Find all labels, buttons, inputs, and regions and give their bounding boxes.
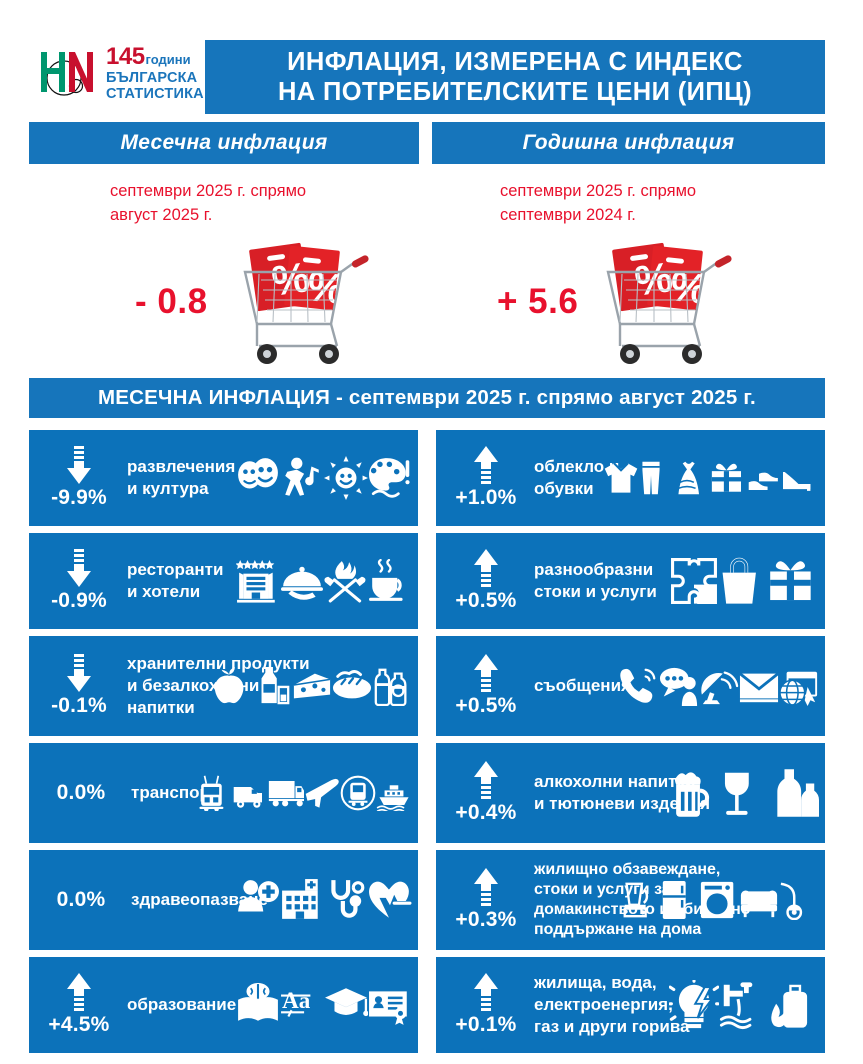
inflation-card: +0.4%алкохолни напиткии тютюневи изделия xyxy=(436,743,825,843)
nsi-logo: 145 години БЪЛГАРСКА СТАТИСТИКА xyxy=(33,44,203,102)
inflation-card: +0.5%разнообразнистоки и услуги xyxy=(436,533,825,629)
cards-column-left: -9.9%развлеченияи култура-0.9%ресторанти… xyxy=(29,430,418,1060)
card-percent-value: +0.3% xyxy=(455,908,516,932)
card-category-label: транспорт xyxy=(129,782,418,804)
card-metric: -0.1% xyxy=(29,636,125,736)
card-category-label-line: здравеопазване xyxy=(131,889,414,911)
card-percent-value: 0.0% xyxy=(57,781,106,805)
card-category-label-line: газ и други горива xyxy=(534,1016,821,1038)
monthly-period-line2: август 2025 г. xyxy=(110,204,306,228)
arrow-up-icon xyxy=(473,654,499,692)
card-percent-value: +4.5% xyxy=(48,1013,109,1037)
card-percent-value: +0.5% xyxy=(455,589,516,613)
nsi-logo-text: 145 години БЪЛГАРСКА СТАТИСТИКА xyxy=(106,45,204,102)
card-category-label-line: облекло и xyxy=(534,456,821,478)
card-category-label-line: стоки и услуги xyxy=(534,581,821,603)
card-metric: +0.3% xyxy=(436,850,532,950)
svg-text:%: % xyxy=(305,262,347,313)
inflation-card: -0.9%ресторантии хотели xyxy=(29,533,418,629)
card-category-label: развлеченияи култура xyxy=(125,456,418,500)
arrow-up-icon xyxy=(473,973,499,1011)
card-category-label: алкохолни напиткии тютюневи изделия xyxy=(532,771,825,815)
logo-years-word: години xyxy=(146,53,191,66)
arrow-up-icon xyxy=(473,868,499,906)
card-metric: -0.9% xyxy=(29,533,125,629)
annual-inflation-period: септември 2025 г. спрямо септември 2024 … xyxy=(500,180,696,228)
logo-line-statistics: СТАТИСТИКА xyxy=(106,87,204,102)
inflation-card: +1.0%облекло иобувки xyxy=(436,430,825,526)
card-percent-value: +0.5% xyxy=(455,694,516,718)
logo-line-bulgarian: БЪЛГАРСКА xyxy=(106,71,204,86)
card-metric: -9.9% xyxy=(29,430,125,526)
card-percent-value: -0.9% xyxy=(51,589,107,613)
monthly-period-line1: септември 2025 г. спрямо xyxy=(110,180,306,204)
card-metric: +1.0% xyxy=(436,430,532,526)
inflation-card: +0.5%съобщения xyxy=(436,636,825,736)
page-title-line1: ИНФЛАЦИЯ, ИЗМЕРЕНА С ИНДЕКС xyxy=(287,47,743,77)
card-category-label: съобщения xyxy=(532,675,825,697)
card-category-label-line: и тютюневи изделия xyxy=(534,793,821,815)
card-category-label-line: и безалкохолни xyxy=(127,675,414,697)
arrow-up-icon xyxy=(473,761,499,799)
card-category-label-line: образование xyxy=(127,994,414,1016)
card-category-label-line: хранителни продукти xyxy=(127,653,414,675)
inflation-card: +4.5%образованиеAa xyxy=(29,957,418,1053)
inflation-card: 0.0%транспорт xyxy=(29,743,418,843)
card-category-label: жилища, вода,електроенергия,газ и други … xyxy=(532,972,825,1037)
page-header: 145 години БЪЛГАРСКА СТАТИСТИКА ИНФЛАЦИЯ… xyxy=(0,18,863,100)
card-percent-value: +0.1% xyxy=(455,1013,516,1037)
card-category-label-line: поддържане на дома xyxy=(534,920,821,940)
annual-inflation-heading: Годишна инфлация xyxy=(432,122,825,164)
card-category-label: ресторантии хотели xyxy=(125,559,418,603)
card-metric: +0.1% xyxy=(436,957,532,1053)
card-category-label-line: транспорт xyxy=(131,782,414,804)
card-category-label: разнообразнистоки и услуги xyxy=(532,559,825,603)
infographic-page: 145 години БЪЛГАРСКА СТАТИСТИКА ИНФЛАЦИЯ… xyxy=(0,0,863,1064)
card-category-label-line: стоки и услуги за xyxy=(534,880,821,900)
card-metric: +0.4% xyxy=(436,743,532,843)
card-category-label: здравеопазване xyxy=(129,889,418,911)
arrow-down-icon xyxy=(66,446,92,484)
card-percent-value: 0.0% xyxy=(57,888,106,912)
monthly-section-banner: МЕСЕЧНА ИНФЛАЦИЯ - септември 2025 г. спр… xyxy=(29,378,825,418)
nsi-logo-mark-icon xyxy=(33,46,99,100)
card-category-label: образование xyxy=(125,994,418,1016)
arrow-up-icon xyxy=(66,973,92,1011)
inflation-card: -9.9%развлеченияи култура xyxy=(29,430,418,526)
page-title-line2: НА ПОТРЕБИТЕЛСКИТЕ ЦЕНИ (ИПЦ) xyxy=(278,77,752,107)
svg-text:%: % xyxy=(668,262,710,313)
arrow-down-icon xyxy=(66,654,92,692)
card-category-label-line: и хотели xyxy=(127,581,414,603)
inflation-card: +0.3%жилищно обзавеждане,стоки и услуги … xyxy=(436,850,825,950)
logo-anniversary-number: 145 xyxy=(106,45,145,69)
monthly-inflation-heading-label: Месечна инфлация xyxy=(120,131,327,155)
card-category-label-line: съобщения xyxy=(534,675,821,697)
card-category-label-line: ресторанти xyxy=(127,559,414,581)
annual-period-line1: септември 2025 г. спрямо xyxy=(500,180,696,204)
monthly-inflation-period: септември 2025 г. спрямо август 2025 г. xyxy=(110,180,306,228)
card-category-label-line: обувки xyxy=(534,478,821,500)
monthly-inflation-heading: Месечна инфлация xyxy=(29,122,419,164)
card-metric: +0.5% xyxy=(436,636,532,736)
card-category-label: облекло иобувки xyxy=(532,456,825,500)
card-metric: 0.0% xyxy=(29,850,129,950)
card-percent-value: -0.1% xyxy=(51,694,107,718)
card-category-label-line: домакинството и обичайно xyxy=(534,900,821,920)
card-category-label-line: напитки xyxy=(127,697,414,719)
card-category-label: хранителни продуктии безалкохолнинапитки xyxy=(125,653,418,718)
shopping-cart-discount-icon: % % xyxy=(215,228,385,368)
annual-inflation-value: + 5.6 xyxy=(497,282,578,322)
monthly-section-banner-label: МЕСЕЧНА ИНФЛАЦИЯ - септември 2025 г. спр… xyxy=(98,386,756,410)
card-category-label: жилищно обзавеждане,стоки и услуги задом… xyxy=(532,860,825,940)
card-metric: +0.5% xyxy=(436,533,532,629)
arrow-down-icon xyxy=(66,549,92,587)
monthly-inflation-value: - 0.8 xyxy=(135,282,208,322)
card-metric: +4.5% xyxy=(29,957,125,1053)
card-category-label-line: алкохолни напитки xyxy=(534,771,821,793)
annual-period-line2: септември 2024 г. xyxy=(500,204,696,228)
cards-column-right: +1.0%облекло иобувки+0.5%разнообразнисто… xyxy=(436,430,825,1060)
card-metric: 0.0% xyxy=(29,743,129,843)
card-category-label-line: жилища, вода, xyxy=(534,972,821,994)
card-percent-value: -9.9% xyxy=(51,486,107,510)
card-category-label-line: и култура xyxy=(127,478,414,500)
arrow-up-icon xyxy=(473,446,499,484)
annual-inflation-heading-label: Годишна инфлация xyxy=(523,131,735,155)
card-category-label-line: разнообразни xyxy=(534,559,821,581)
card-percent-value: +1.0% xyxy=(455,486,516,510)
card-category-label-line: жилищно обзавеждане, xyxy=(534,860,821,880)
card-category-label-line: развлечения xyxy=(127,456,414,478)
inflation-card: 0.0%здравеопазване xyxy=(29,850,418,950)
inflation-card: -0.1%хранителни продуктии безалкохолнина… xyxy=(29,636,418,736)
inflation-card: +0.1%жилища, вода,електроенергия,газ и д… xyxy=(436,957,825,1053)
card-category-label-line: електроенергия, xyxy=(534,994,821,1016)
arrow-up-icon xyxy=(473,549,499,587)
page-title: ИНФЛАЦИЯ, ИЗМЕРЕНА С ИНДЕКС НА ПОТРЕБИТЕ… xyxy=(205,40,825,114)
shopping-cart-discount-icon: % % xyxy=(578,228,748,368)
card-percent-value: +0.4% xyxy=(455,801,516,825)
